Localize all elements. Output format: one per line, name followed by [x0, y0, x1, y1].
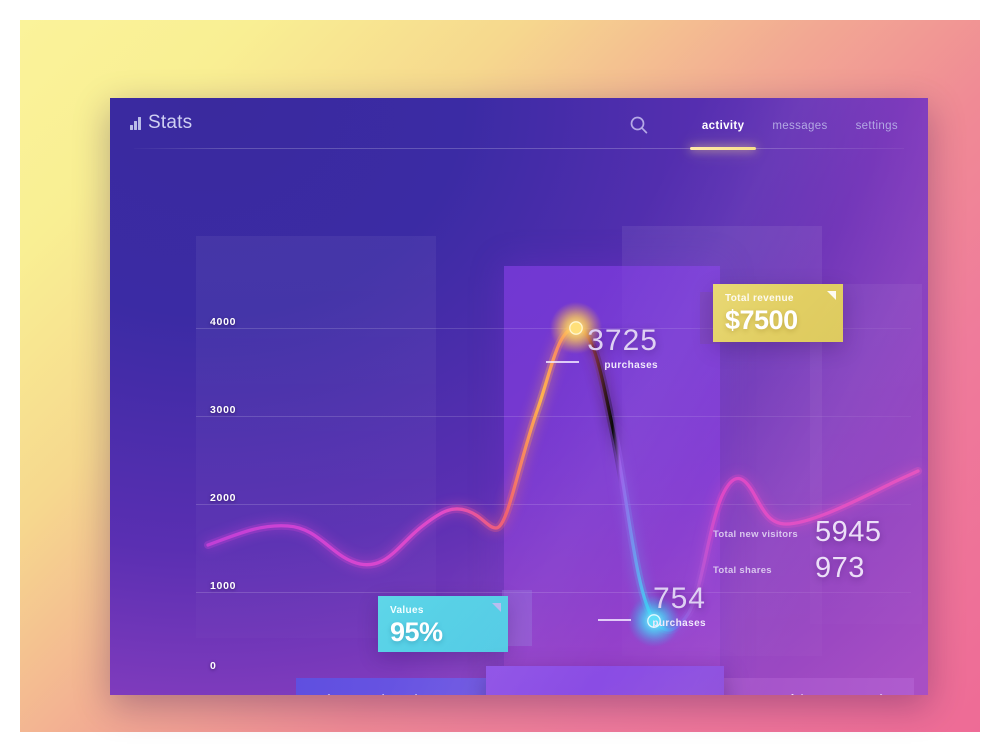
page-background: Stats activity messages settings [20, 20, 980, 732]
month-selector: december february january [296, 678, 914, 695]
chevron-left-icon[interactable] [318, 692, 334, 695]
month-next-label: february [790, 694, 836, 695]
stat-row-total-new-visitors: Total new visitors 5945 [713, 522, 913, 558]
brand-logo[interactable]: Stats [130, 112, 192, 134]
annotation-trough-leader [598, 619, 631, 621]
stat-value-total-new-visitors: 5945 [815, 518, 882, 547]
tab-settings[interactable]: settings [856, 116, 898, 136]
tab-messages-label: messages [772, 120, 827, 132]
annotation-peak-leader [546, 361, 579, 363]
values-label: Values [390, 605, 508, 616]
month-current-button[interactable]: january [486, 666, 724, 695]
bar-chart-icon [130, 117, 141, 130]
brand-label: Stats [148, 112, 192, 134]
stat-row-total-shares: Total shares 973 [713, 558, 913, 594]
header-divider [134, 148, 904, 149]
total-revenue-card[interactable]: Total revenue $7500 [713, 284, 843, 342]
header-nav: activity messages settings [626, 113, 898, 139]
annotation-trough-unit: purchases [638, 618, 706, 629]
tab-settings-label: settings [856, 120, 898, 132]
stat-label-total-shares: Total shares [713, 565, 772, 576]
stat-value-total-shares: 973 [815, 554, 865, 583]
stats-dashboard-window: Stats activity messages settings [110, 98, 928, 695]
month-previous-label: december [378, 694, 433, 695]
summary-stats: Total new visitors 5945 Total shares 973 [713, 522, 913, 594]
resize-corner-icon [492, 603, 501, 612]
stat-label-total-new-visitors: Total new visitors [713, 529, 798, 540]
month-current-label: january [486, 693, 724, 695]
annotation-peak-value: 3725 [586, 326, 658, 356]
tab-messages[interactable]: messages [772, 116, 827, 136]
values-card[interactable]: Values 95% [378, 596, 508, 652]
annotation-peak: 3725 purchases [586, 326, 658, 371]
tab-activity-label: activity [702, 120, 744, 132]
dashboard-header: Stats activity messages settings [110, 98, 928, 154]
total-revenue-value: $7500 [725, 307, 843, 334]
search-icon[interactable] [626, 113, 652, 139]
annotation-peak-unit: purchases [586, 360, 658, 371]
tab-activity[interactable]: activity [702, 116, 744, 136]
annotation-trough-value: 754 [638, 584, 706, 614]
peak-data-point[interactable] [570, 322, 582, 334]
resize-corner-icon [827, 291, 836, 300]
chevron-right-icon[interactable] [876, 692, 892, 695]
values-value: 95% [390, 619, 508, 646]
annotation-trough: 754 purchases [638, 584, 706, 629]
active-tab-underline [690, 147, 756, 150]
total-revenue-label: Total revenue [725, 293, 843, 304]
